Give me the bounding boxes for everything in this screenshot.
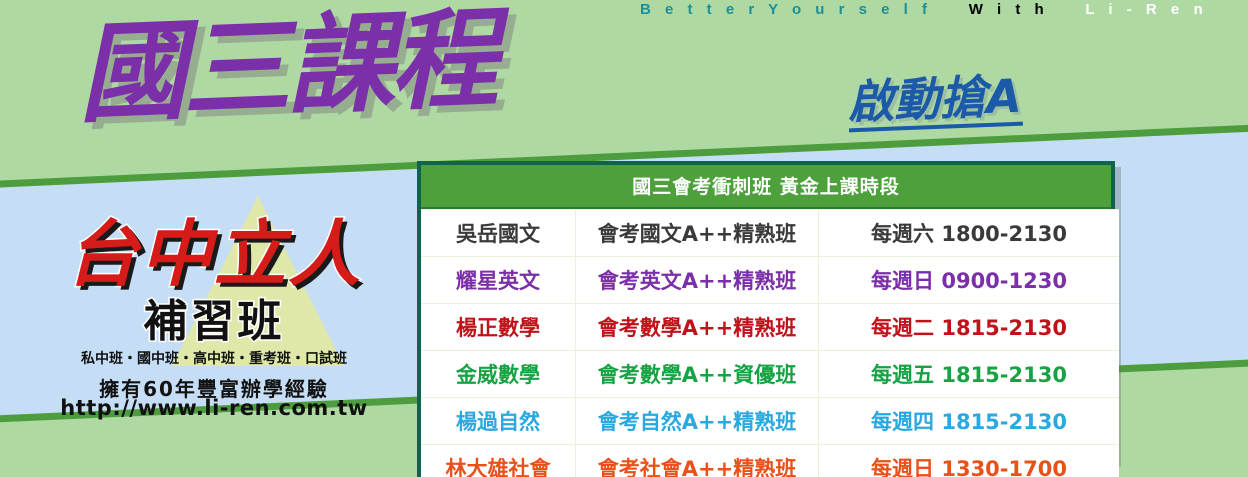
cell-course: 會考國文A++精熟班 xyxy=(576,210,819,257)
cell-time: 每週六 1800-2130 xyxy=(819,210,1120,257)
schedule-header: 國三會考衝刺班 黃金上課時段 xyxy=(421,165,1111,209)
cell-course: 會考自然A++精熟班 xyxy=(576,398,819,445)
cell-teacher: 吳岳國文 xyxy=(421,210,576,257)
logo-class-list: 私中班・國中班・高中班・重考班・口試班 xyxy=(34,348,394,368)
cell-teacher: 楊過自然 xyxy=(421,398,576,445)
tagline-part-3: L i - R e n xyxy=(1085,1,1207,18)
sub-title: 啟動搶A xyxy=(847,73,1023,133)
table-row: 林大雄社會會考社會A++精熟班每週日 1330-1700 xyxy=(421,445,1119,477)
cell-time: 每週二 1815-2130 xyxy=(819,304,1120,351)
table-row: 吳岳國文會考國文A++精熟班每週六 1800-2130 xyxy=(421,210,1119,257)
logo: 台中立人 補習班 私中班・國中班・高中班・重考班・口試班 擁有60年豐富辦學經驗… xyxy=(22,196,402,426)
cell-time: 每週日 0900-1230 xyxy=(819,257,1120,304)
cell-time: 每週五 1815-2130 xyxy=(819,351,1120,398)
schedule-table: 國三會考衝刺班 黃金上課時段 吳岳國文會考國文A++精熟班每週六 1800-21… xyxy=(417,161,1115,477)
cell-course: 會考數學A++資優班 xyxy=(576,351,819,398)
cell-teacher: 耀星英文 xyxy=(421,257,576,304)
cell-teacher: 林大雄社會 xyxy=(421,445,576,477)
table-row: 楊過自然會考自然A++精熟班每週四 1815-2130 xyxy=(421,398,1119,445)
schedule-grid: 吳岳國文會考國文A++精熟班每週六 1800-2130耀星英文會考英文A++精熟… xyxy=(421,209,1119,477)
poster-canvas: B e t t e r Y o u r s e l f W i t h L i … xyxy=(0,0,1248,477)
tagline-part-2: W i t h xyxy=(969,1,1049,18)
cell-time: 每週四 1815-2130 xyxy=(819,398,1120,445)
logo-type: 補習班 xyxy=(34,300,394,344)
cell-teacher: 金威數學 xyxy=(421,351,576,398)
logo-website-url[interactable]: http://www.li-ren.com.tw xyxy=(34,396,394,420)
cell-course: 會考英文A++精熟班 xyxy=(576,257,819,304)
table-row: 楊正數學會考數學A++精熟班每週二 1815-2130 xyxy=(421,304,1119,351)
table-row: 金威數學會考數學A++資優班每週五 1815-2130 xyxy=(421,351,1119,398)
table-row: 耀星英文會考英文A++精熟班每週日 0900-1230 xyxy=(421,257,1119,304)
main-title: 國三課程 xyxy=(76,6,496,130)
cell-teacher: 楊正數學 xyxy=(421,304,576,351)
cell-course: 會考數學A++精熟班 xyxy=(576,304,819,351)
tagline: B e t t e r Y o u r s e l f W i t h L i … xyxy=(640,1,1248,18)
cell-time: 每週日 1330-1700 xyxy=(819,445,1120,477)
logo-name: 台中立人 xyxy=(34,218,394,290)
cell-course: 會考社會A++精熟班 xyxy=(576,445,819,477)
tagline-part-1: B e t t e r Y o u r s e l f xyxy=(640,1,932,18)
